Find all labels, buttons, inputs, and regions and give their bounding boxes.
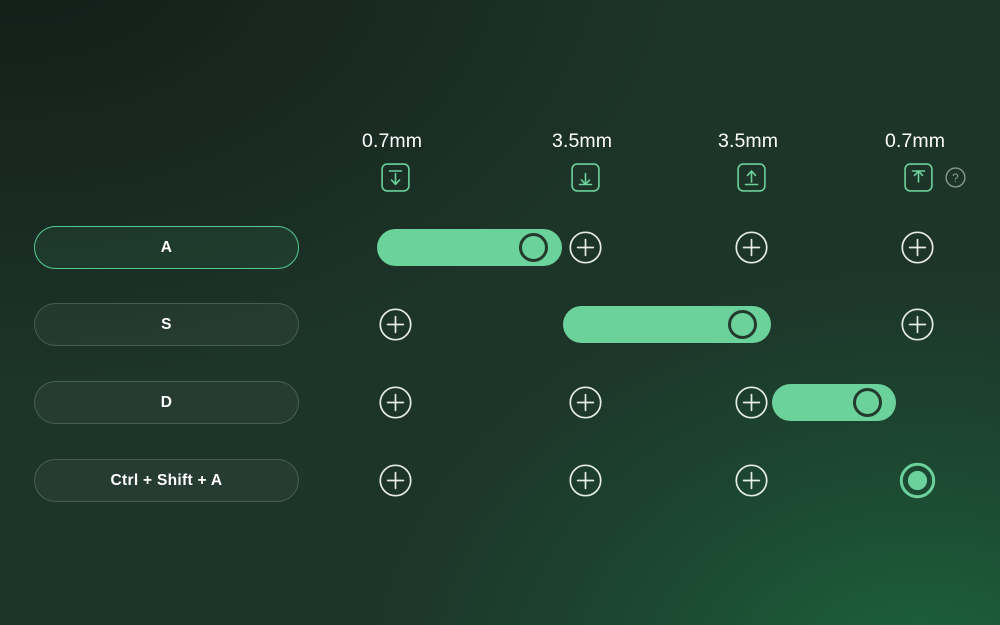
add-plus-icon[interactable] xyxy=(735,231,768,264)
arrow-down-to-line-top-icon[interactable] xyxy=(381,163,410,192)
key-binding-button-4[interactable]: Ctrl + Shift + A xyxy=(34,459,299,502)
key-binding-button-1[interactable]: A xyxy=(34,226,299,269)
key-binding-button-2[interactable]: S xyxy=(34,303,299,346)
question-mark-circle-icon[interactable]: ? xyxy=(945,167,966,188)
column-header-label-4: 0.7mm xyxy=(885,130,945,153)
add-plus-icon[interactable] xyxy=(735,386,768,419)
arrow-down-to-line-bottom-icon[interactable] xyxy=(571,163,600,192)
key-binding-label: S xyxy=(161,316,172,334)
slider-knob[interactable] xyxy=(728,310,757,339)
add-plus-icon[interactable] xyxy=(379,386,412,419)
key-binding-label: Ctrl + Shift + A xyxy=(111,472,223,490)
pressure-slider[interactable] xyxy=(563,306,771,343)
controls-stage: 0.7mm3.5mm3.5mm0.7mm?ASDCtrl + Shift + A xyxy=(0,0,1000,625)
slider-knob[interactable] xyxy=(519,233,548,262)
add-plus-icon[interactable] xyxy=(569,464,602,497)
key-binding-button-3[interactable]: D xyxy=(34,381,299,424)
add-plus-icon[interactable] xyxy=(901,231,934,264)
column-header-label-3: 3.5mm xyxy=(718,130,778,153)
pressure-slider[interactable] xyxy=(377,229,562,266)
add-plus-icon[interactable] xyxy=(901,308,934,341)
add-plus-icon[interactable] xyxy=(569,231,602,264)
selected-radio-icon[interactable] xyxy=(899,462,936,499)
add-plus-icon[interactable] xyxy=(735,464,768,497)
add-plus-icon[interactable] xyxy=(379,464,412,497)
column-header-label-1: 0.7mm xyxy=(362,130,422,153)
slider-knob[interactable] xyxy=(853,388,882,417)
add-plus-icon[interactable] xyxy=(569,386,602,419)
arrow-up-to-line-top-icon[interactable] xyxy=(904,163,933,192)
pressure-slider[interactable] xyxy=(772,384,896,421)
add-plus-icon[interactable] xyxy=(379,308,412,341)
column-header-label-2: 3.5mm xyxy=(552,130,612,153)
svg-text:?: ? xyxy=(952,171,959,185)
arrow-up-to-line-bottom-icon[interactable] xyxy=(737,163,766,192)
key-binding-label: A xyxy=(161,239,173,257)
key-binding-label: D xyxy=(161,394,173,412)
